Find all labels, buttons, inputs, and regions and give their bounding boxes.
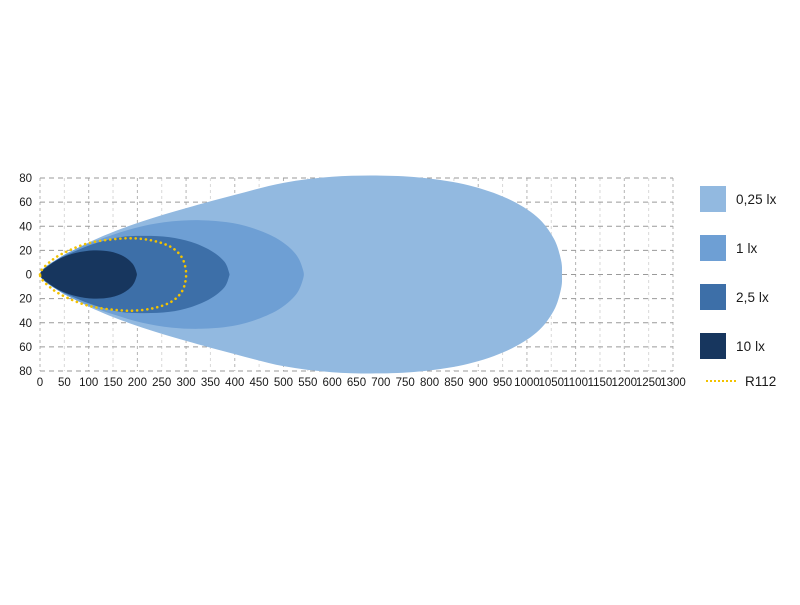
y-tick-label: 40 [19,221,32,233]
legend-swatch-0 [700,186,726,212]
legend-item-2: 2,5 lx [700,284,800,310]
isolux-chart: 0501001502002503003504004505005506006507… [0,0,800,600]
y-tick-label: 80 [19,366,32,378]
x-tick-label: 350 [201,377,220,389]
x-tick-label: 600 [323,377,342,389]
x-tick-label: 1000 [514,377,540,389]
legend-swatch-3 [700,333,726,359]
x-tick-label: 900 [469,377,488,389]
x-tick-label: 300 [176,377,195,389]
x-tick-label: 950 [493,377,512,389]
legend-item-0: 0,25 lx [700,186,800,212]
legend-item-3: 10 lx [700,333,800,359]
legend-label-1: 1 lx [736,241,757,256]
x-tick-label: 1050 [538,377,564,389]
x-tick-label: 800 [420,377,439,389]
y-tick-label: 60 [19,197,32,209]
legend-item-reference: R112 [700,374,800,388]
x-tick-label: 250 [152,377,171,389]
chart-legend: 0,25 lx 1 lx 2,5 lx 10 lx R112 [700,186,800,388]
x-tick-label: 1300 [660,377,686,389]
legend-label-reference: R112 [745,374,776,389]
x-tick-label: 550 [298,377,317,389]
legend-item-1: 1 lx [700,235,800,261]
y-tick-label: 80 [19,173,32,185]
plot-area: 0501001502002503003504004505005506006507… [0,0,800,600]
legend-label-3: 10 lx [736,339,765,354]
x-tick-label: 850 [444,377,463,389]
x-tick-label: 150 [103,377,122,389]
x-tick-label: 1200 [612,377,638,389]
x-tick-label: 100 [79,377,98,389]
legend-swatch-1 [700,235,726,261]
y-tick-label: 60 [19,342,32,354]
x-tick-label: 1250 [636,377,662,389]
x-tick-label: 650 [347,377,366,389]
x-tick-label: 400 [225,377,244,389]
x-tick-label: 450 [250,377,269,389]
x-tick-label: 500 [274,377,293,389]
legend-swatch-2 [700,284,726,310]
x-tick-label: 0 [37,377,43,389]
x-tick-label: 50 [58,377,71,389]
x-tick-label: 700 [371,377,390,389]
y-tick-label: 20 [19,294,32,306]
x-tick-label: 200 [128,377,147,389]
x-tick-label: 750 [396,377,415,389]
y-tick-label: 0 [26,270,32,282]
r112-line-icon [706,380,736,382]
legend-label-0: 0,25 lx [736,192,776,207]
x-tick-label: 1100 [563,377,588,389]
y-tick-label: 40 [19,318,32,330]
y-tick-label: 20 [19,245,32,257]
legend-label-2: 2,5 lx [736,290,769,305]
x-tick-label: 1150 [588,377,613,389]
isolux-regions [40,176,562,374]
